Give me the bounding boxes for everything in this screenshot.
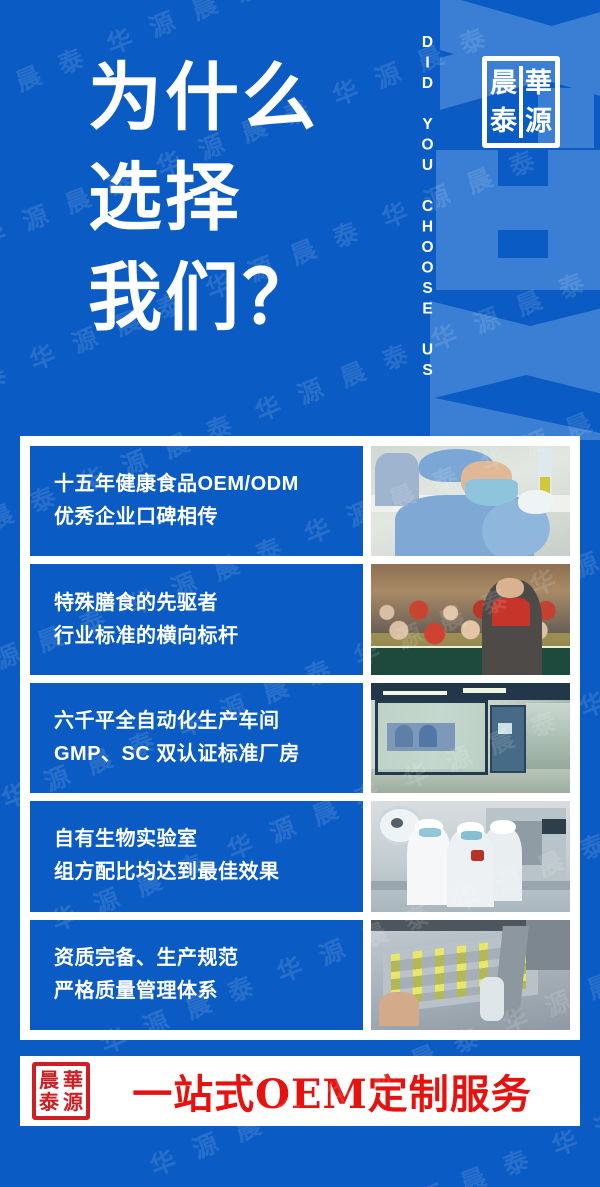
seal-char-yuan: 源 xyxy=(525,102,552,140)
watermark-text: 华 源 晨 泰 xyxy=(595,702,600,896)
feature-card-text-1: 十五年健康食品OEM/ODM 优秀企业口碑相传 xyxy=(30,446,363,556)
vertical-tagline: DID YOU CHOOSE US xyxy=(406,18,436,398)
title-line-3: 我们？ xyxy=(88,248,319,348)
feature-card-text-3: 六千平全自动化生产车间 GMP、SC 双认证标准厂房 xyxy=(30,683,363,793)
watermark-text: 华 源 晨 泰 xyxy=(567,1141,600,1187)
feature-line: 组方配比均达到最佳效果 xyxy=(54,856,363,889)
feature-line: 特殊膳食的先驱者 xyxy=(54,587,363,620)
footer-slogan: 一站式OEM定制服务 xyxy=(90,1062,580,1120)
feature-line: 资质完备、生产规范 xyxy=(54,942,363,975)
seal-char-tai: 泰 xyxy=(39,1091,59,1113)
feature-line: 优秀企业口碑相传 xyxy=(54,501,363,534)
feature-line: 自有生物实验室 xyxy=(54,823,363,856)
feature-line: 严格质量管理体系 xyxy=(54,975,363,1008)
brand-seal-icon: 晨 泰 華 源 xyxy=(482,56,560,148)
seal-char-yuan: 源 xyxy=(63,1091,83,1113)
capsule-tray-photo xyxy=(371,920,570,1030)
seal-char-chen: 晨 xyxy=(490,64,517,102)
feature-cards-frame: 十五年健康食品OEM/ODM 优秀企业口碑相传 特殊膳食的先驱者 行业标准的横向… xyxy=(20,436,580,1040)
seal-char-hua: 華 xyxy=(63,1069,83,1091)
feature-row: 资质完备、生产规范 严格质量管理体系 xyxy=(30,920,570,1030)
watermark-text: 华 源 晨 泰 xyxy=(165,1161,391,1187)
feature-card-text-5: 资质完备、生产规范 严格质量管理体系 xyxy=(30,920,363,1030)
feature-line: GMP、SC 双认证标准厂房 xyxy=(54,738,363,771)
feature-line: 行业标准的横向标杆 xyxy=(54,620,363,653)
feature-card-text-4: 自有生物实验室 组方配比均达到最佳效果 xyxy=(30,801,363,911)
feature-row: 自有生物实验室 组方配比均达到最佳效果 xyxy=(30,801,570,911)
production-line-workers-photo xyxy=(371,801,570,911)
watermark-text: 华 源 晨 泰 xyxy=(249,0,475,39)
footer-slogan-banner: 晨 泰 華 源 一站式OEM定制服务 xyxy=(20,1056,580,1126)
cleanroom-corridor-photo xyxy=(371,683,570,793)
feature-card-text-2: 特殊膳食的先驱者 行业标准的横向标杆 xyxy=(30,564,363,674)
feature-row: 特殊膳食的先驱者 行业标准的横向标杆 xyxy=(30,564,570,674)
lab-technician-photo xyxy=(371,446,570,556)
feature-row: 六千平全自动化生产车间 GMP、SC 双认证标准厂房 xyxy=(30,683,570,793)
brand-seal-icon-footer: 晨 泰 華 源 xyxy=(32,1062,90,1120)
page-title: 为什么 选择 我们？ xyxy=(88,48,319,348)
seal-char-chen: 晨 xyxy=(39,1069,59,1091)
title-line-1: 为什么 xyxy=(88,48,319,148)
title-line-2: 选择 xyxy=(88,148,319,248)
feature-row: 十五年健康食品OEM/ODM 优秀企业口碑相传 xyxy=(30,446,570,556)
promotional-poster: 为什么 选择 我们？ DID YOU CHOOSE US 晨 泰 華 源 十五年… xyxy=(0,0,600,1187)
seal-char-tai: 泰 xyxy=(490,102,517,140)
conference-audience-photo xyxy=(371,564,570,674)
feature-line: 六千平全自动化生产车间 xyxy=(54,705,363,738)
feature-line: 十五年健康食品OEM/ODM xyxy=(54,468,363,501)
seal-char-hua: 華 xyxy=(525,64,552,102)
